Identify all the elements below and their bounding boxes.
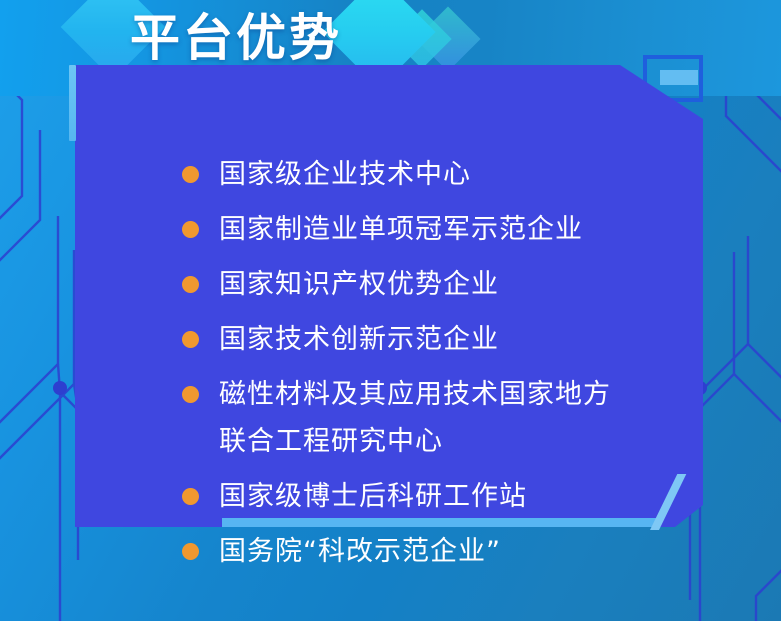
list-item-continuation: 联合工程研究中心 (182, 423, 742, 460)
bullet-icon (182, 386, 199, 403)
list-item: 国家级博士后科研工作站 (182, 478, 742, 515)
bullet-icon (182, 543, 199, 560)
list-item-label: 国家制造业单项冠军示范企业 (219, 211, 583, 248)
bullet-placeholder (182, 433, 199, 450)
bullet-icon (182, 276, 199, 293)
list-item-label: 国家技术创新示范企业 (219, 321, 499, 358)
list-item: 国家级企业技术中心 (182, 156, 742, 193)
list-item: 国家知识产权优势企业 (182, 266, 742, 303)
list-item-label: 磁性材料及其应用技术国家地方 (219, 376, 611, 413)
list-item: 国家技术创新示范企业 (182, 321, 742, 358)
bullet-icon (182, 331, 199, 348)
advantage-list: 国家级企业技术中心 国家制造业单项冠军示范企业 国家知识产权优势企业 国家技术创… (182, 156, 742, 588)
list-item: 国家制造业单项冠军示范企业 (182, 211, 742, 248)
list-item: 磁性材料及其应用技术国家地方 (182, 376, 742, 413)
list-item-label: 国家知识产权优势企业 (219, 266, 499, 303)
advantage-card: 国家级企业技术中心 国家制造业单项冠军示范企业 国家知识产权优势企业 国家技术创… (60, 56, 720, 536)
list-item: 国务院“科改示范企业” (182, 533, 742, 570)
page-title: 平台优势 (130, 8, 342, 68)
bullet-icon (182, 221, 199, 238)
list-item-label: 国务院“科改示范企业” (219, 533, 501, 570)
poster-stage: 平台优势 国家级企业技术中心 国家制造业单项冠军示范企业 国家知识产权优势企业 (0, 0, 781, 621)
card-edge-left-accent (69, 65, 76, 141)
list-item-label: 国家级博士后科研工作站 (219, 478, 527, 515)
bullet-icon (182, 166, 199, 183)
list-item-label: 联合工程研究中心 (219, 423, 443, 460)
list-item-label: 国家级企业技术中心 (219, 156, 471, 193)
bullet-icon (182, 488, 199, 505)
